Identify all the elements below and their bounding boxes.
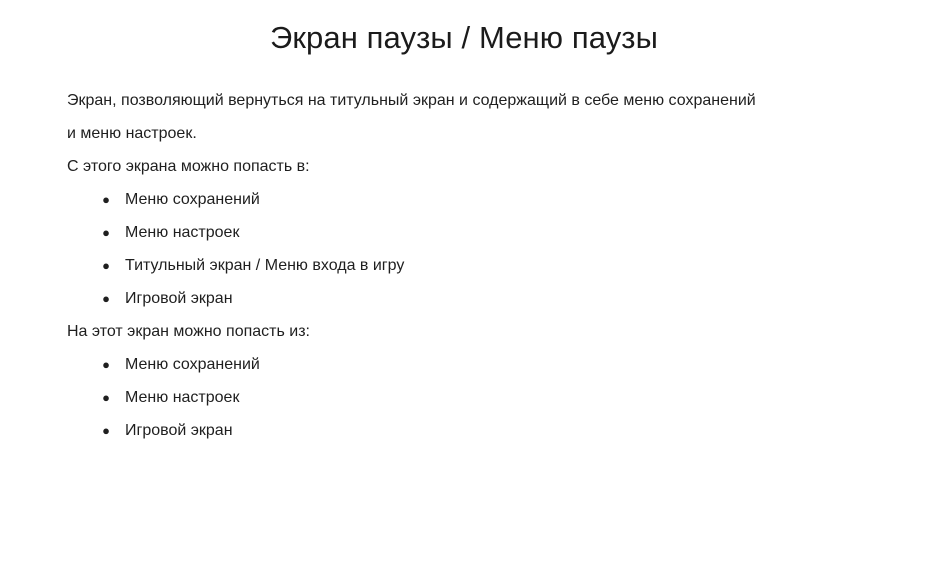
section-heading-to-this-screen: На этот экран можно попасть из: <box>67 315 767 348</box>
bullet-icon: ● <box>101 183 111 216</box>
list-destinations: ● Меню сохранений ● Меню настроек ● Титу… <box>67 183 767 315</box>
list-item-label: Меню настроек <box>125 389 239 406</box>
list-item-label: Титульный экран / Меню входа в игру <box>125 257 404 274</box>
bullet-icon: ● <box>101 381 111 414</box>
bullet-icon: ● <box>101 414 111 447</box>
page-title: Экран паузы / Меню паузы <box>0 0 928 58</box>
list-item: ● Игровой экран <box>67 282 767 315</box>
list-item: ● Меню настроек <box>67 216 767 249</box>
list-item-label: Меню сохранений <box>125 191 260 208</box>
bullet-icon: ● <box>101 348 111 381</box>
intro-paragraph: Экран, позволяющий вернуться на титульны… <box>67 84 767 150</box>
list-item: ● Меню сохранений <box>67 348 767 381</box>
document-page: Экран паузы / Меню паузы Экран, позволяю… <box>0 0 928 584</box>
bullet-icon: ● <box>101 249 111 282</box>
list-sources: ● Меню сохранений ● Меню настроек ● Игро… <box>67 348 767 447</box>
section-heading-from-this-screen: С этого экрана можно попасть в: <box>67 150 767 183</box>
list-item-label: Меню настроек <box>125 224 239 241</box>
list-item: ● Титульный экран / Меню входа в игру <box>67 249 767 282</box>
bullet-icon: ● <box>101 282 111 315</box>
list-item: ● Меню сохранений <box>67 183 767 216</box>
document-body: Экран, позволяющий вернуться на титульны… <box>67 84 767 447</box>
list-item-label: Игровой экран <box>125 422 233 439</box>
list-item-label: Игровой экран <box>125 290 233 307</box>
list-item: ● Меню настроек <box>67 381 767 414</box>
list-item-label: Меню сохранений <box>125 356 260 373</box>
bullet-icon: ● <box>101 216 111 249</box>
list-item: ● Игровой экран <box>67 414 767 447</box>
